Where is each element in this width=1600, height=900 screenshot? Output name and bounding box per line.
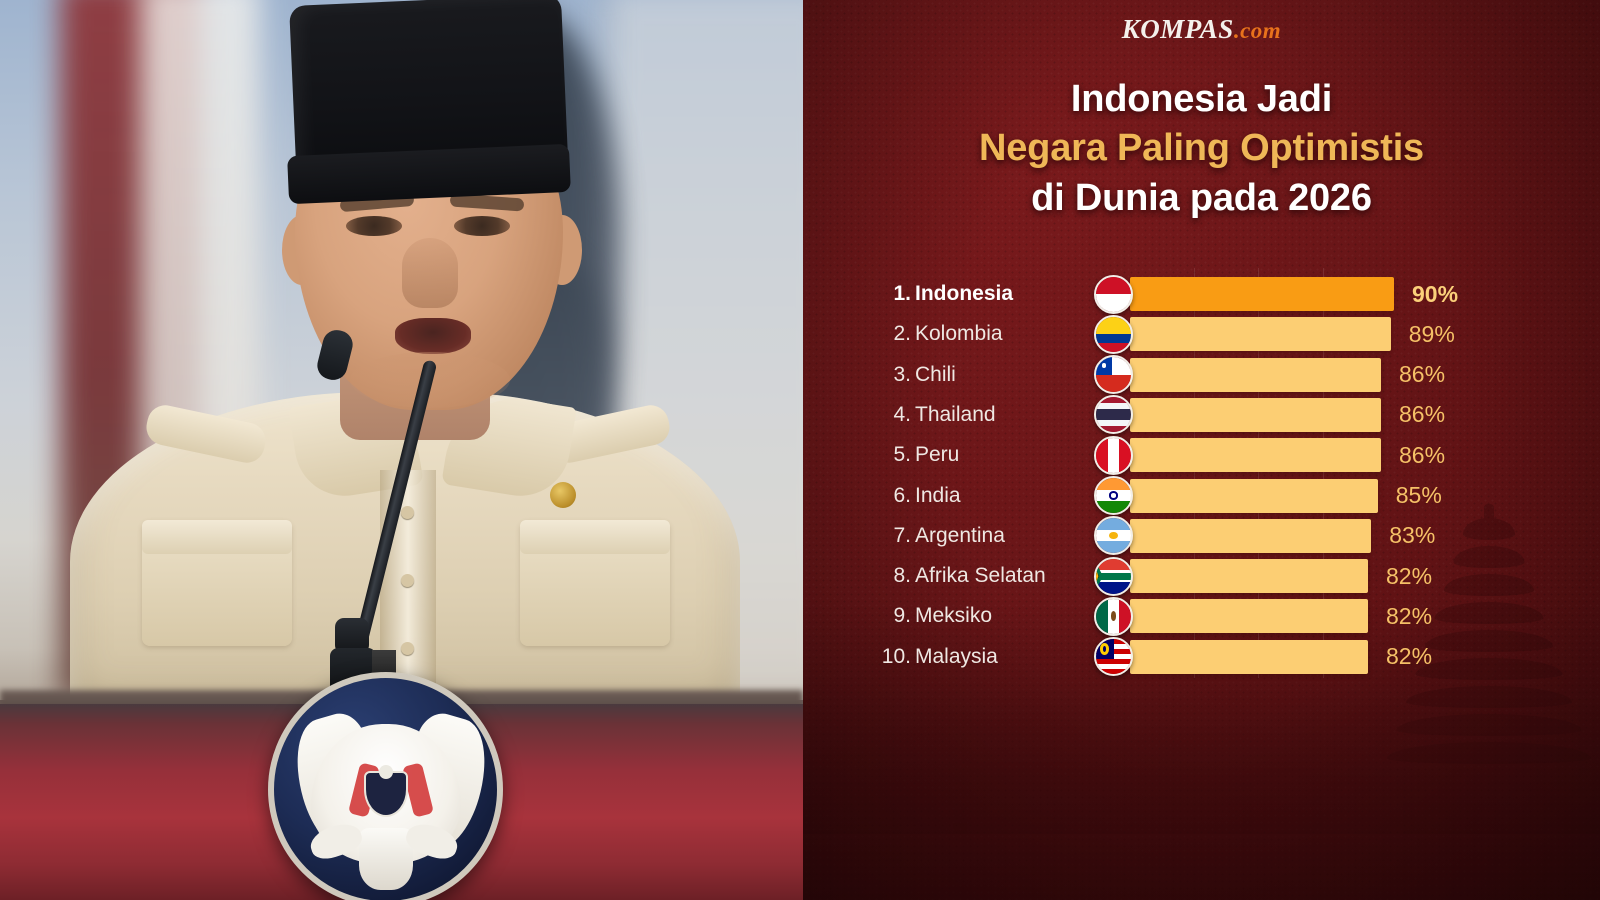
row-country-label: Peru xyxy=(915,443,959,467)
chart-value-label: 86% xyxy=(1399,401,1445,428)
flag-argentina-icon xyxy=(1094,516,1133,555)
chart-bar xyxy=(1130,599,1368,633)
chart-bar xyxy=(1130,398,1381,432)
flag-chile-icon xyxy=(1094,355,1133,394)
uniform-badge xyxy=(550,482,576,508)
chart-row[interactable]: 9.Meksiko82% xyxy=(803,598,1600,634)
flag-peru-icon xyxy=(1094,436,1133,475)
logo-wordmark: KOMPAS xyxy=(1122,14,1234,44)
row-country-label: Chili xyxy=(915,363,956,387)
row-rank: 8. xyxy=(863,564,911,588)
chart-value-label: 85% xyxy=(1396,482,1442,509)
title-line-1: Indonesia Jadi xyxy=(803,75,1600,124)
row-rank: 7. xyxy=(863,524,911,548)
kompas-logo[interactable]: KOMPAS.com xyxy=(803,14,1600,45)
row-country-label: Kolombia xyxy=(915,322,1003,346)
pocket-flap-left xyxy=(142,520,292,554)
row-country-label: Indonesia xyxy=(915,282,1013,306)
row-rank: 3. xyxy=(863,363,911,387)
chart-bar xyxy=(1130,640,1368,674)
chart-value-label: 86% xyxy=(1399,442,1445,469)
chart-bar xyxy=(1130,358,1381,392)
row-rank: 4. xyxy=(863,403,911,427)
chart-value-label: 82% xyxy=(1386,643,1432,670)
row-country-label: Afrika Selatan xyxy=(915,564,1046,588)
chart-value-label: 83% xyxy=(1389,522,1435,549)
title-line-3: di Dunia pada 2026 xyxy=(803,174,1600,223)
chart-row[interactable]: 6.India85% xyxy=(803,478,1600,514)
chart-value-label: 86% xyxy=(1399,361,1445,388)
chart-bar xyxy=(1130,438,1381,472)
page-title: Indonesia Jadi Negara Paling Optimistis … xyxy=(803,75,1600,223)
ranking-bar-chart: 1.Indonesia90%2.Kolombia89%3.Chili86%4.T… xyxy=(803,268,1600,678)
chart-bar xyxy=(1130,479,1378,513)
row-rank: 10. xyxy=(863,645,911,669)
chart-row[interactable]: 4.Thailand86% xyxy=(803,397,1600,433)
row-country-label: Meksiko xyxy=(915,604,992,628)
logo-domain-suffix: .com xyxy=(1234,18,1281,43)
flag-mexico-icon xyxy=(1094,597,1133,636)
row-rank: 6. xyxy=(863,484,911,508)
chart-row[interactable]: 5.Peru86% xyxy=(803,437,1600,473)
chart-value-label: 90% xyxy=(1412,281,1458,308)
news-photo xyxy=(0,0,803,900)
chart-value-label: 82% xyxy=(1386,603,1432,630)
row-rank: 9. xyxy=(863,604,911,628)
row-rank: 2. xyxy=(863,322,911,346)
garuda-tail xyxy=(359,828,413,890)
shirt-button xyxy=(401,574,414,587)
chart-value-label: 82% xyxy=(1386,563,1432,590)
chart-row[interactable]: 2.Kolombia89% xyxy=(803,316,1600,352)
nose xyxy=(402,238,458,308)
flag-malaysia-icon xyxy=(1094,637,1133,676)
infographic-panel: KOMPAS.com Indonesia Jadi Negara Paling … xyxy=(803,0,1600,900)
pancasila-star xyxy=(379,765,393,779)
chart-row[interactable]: 1.Indonesia90% xyxy=(803,276,1600,312)
row-rank: 1. xyxy=(863,282,911,306)
row-country-label: Malaysia xyxy=(915,645,998,669)
flag-india-icon xyxy=(1094,476,1133,515)
pocket-flap-right xyxy=(520,520,670,554)
shirt-button xyxy=(401,642,414,655)
row-rank: 5. xyxy=(863,443,911,467)
garuda-pancasila-icon xyxy=(268,672,503,900)
chart-bar xyxy=(1130,559,1368,593)
chart-bar xyxy=(1130,317,1391,351)
eye-left xyxy=(346,216,402,236)
chart-bar xyxy=(1130,519,1371,553)
flag-indonesia-icon xyxy=(1094,275,1133,314)
shirt-pocket-right xyxy=(520,520,670,646)
chart-row[interactable]: 8.Afrika Selatan82% xyxy=(803,558,1600,594)
eye-right xyxy=(454,216,510,236)
flag-thailand-icon xyxy=(1094,395,1133,434)
chart-bar xyxy=(1130,277,1394,311)
mouth xyxy=(395,318,471,354)
shirt-pocket-left xyxy=(142,520,292,646)
chart-row[interactable]: 3.Chili86% xyxy=(803,357,1600,393)
chart-row[interactable]: 10.Malaysia82% xyxy=(803,639,1600,675)
row-country-label: Argentina xyxy=(915,524,1005,548)
chart-row[interactable]: 7.Argentina83% xyxy=(803,518,1600,554)
infographic-stage: KOMPAS.com Indonesia Jadi Negara Paling … xyxy=(0,0,1600,900)
shirt-button xyxy=(401,506,414,519)
title-line-2: Negara Paling Optimistis xyxy=(803,124,1600,173)
flag-colombia-icon xyxy=(1094,315,1133,354)
row-country-label: Thailand xyxy=(915,403,996,427)
row-country-label: India xyxy=(915,484,961,508)
flag-south-africa-icon xyxy=(1094,557,1133,596)
chart-value-label: 89% xyxy=(1409,321,1455,348)
